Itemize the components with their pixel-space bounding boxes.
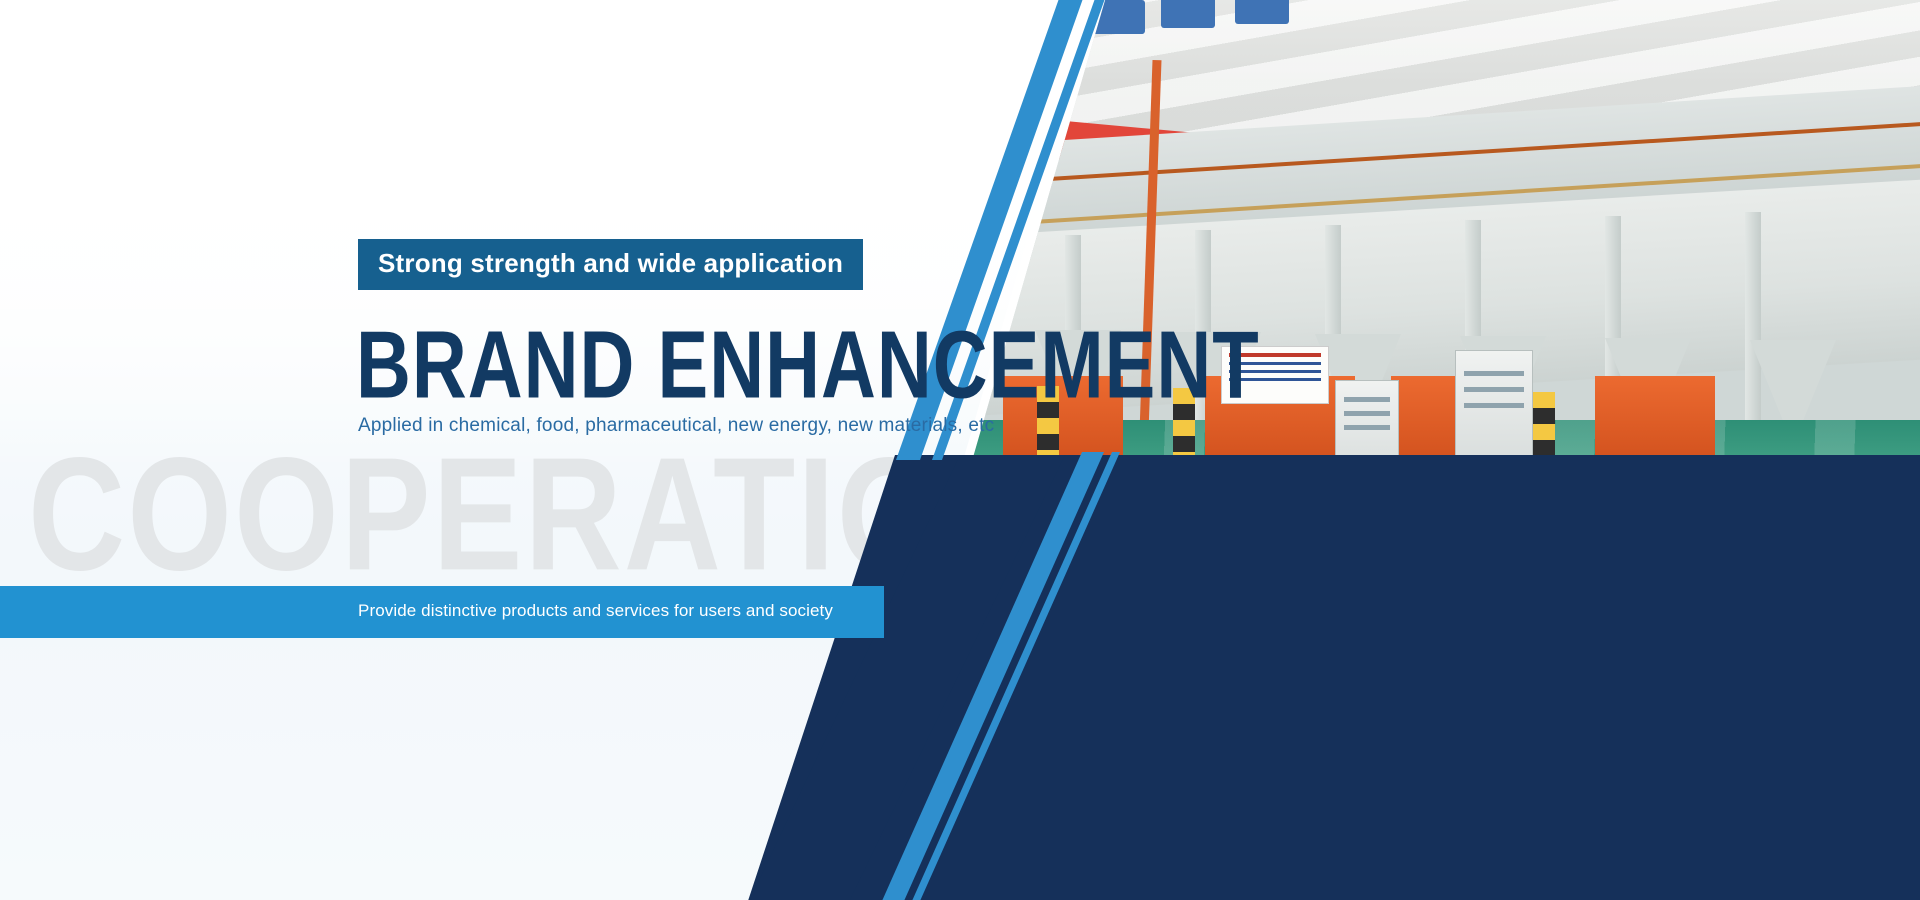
page-subtitle: Applied in chemical, food, pharmaceutica…: [358, 415, 994, 437]
banner-root: COOPERATION: [0, 0, 1920, 900]
badge-strong-strength: Strong strength and wide application: [358, 239, 863, 290]
footer-strip-text: Provide distinctive products and service…: [358, 601, 833, 621]
page-title: BRAND ENHANCEMENT: [356, 318, 1260, 414]
diagonal-decorations: [0, 0, 1920, 900]
